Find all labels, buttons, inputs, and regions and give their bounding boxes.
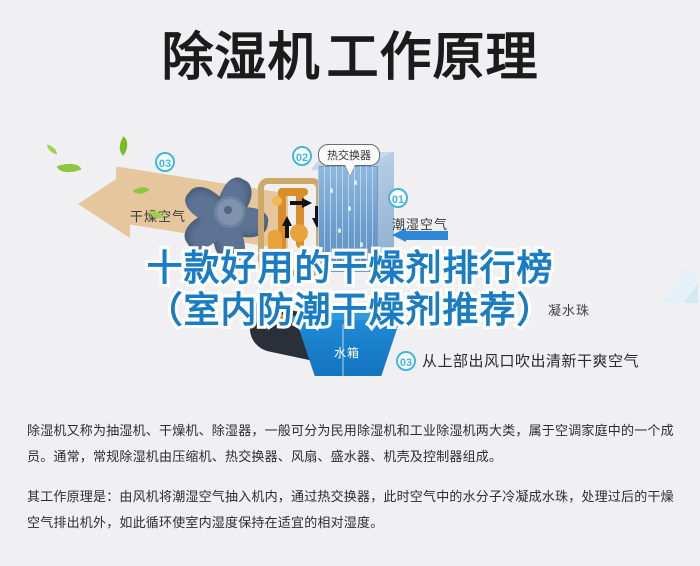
step-03-caption: 03 从上部出风口吹出清新干爽空气 xyxy=(396,350,639,371)
dehumidifier-diagram: 干燥空气 xyxy=(0,110,700,400)
step-03-caption-text: 从上部出风口吹出清新干爽空气 xyxy=(422,350,639,371)
heat-exchanger-callout: 热交换器 xyxy=(318,144,380,166)
step-badge-02: 02 xyxy=(292,146,312,166)
water-tank-icon: 水箱 xyxy=(290,310,406,382)
page-title: 除湿机工作原理 xyxy=(0,28,700,88)
body-paragraph-2: 其工作原理是：由风机将潮湿空气抽入机内，通过热交换器，此时空气中的水分子冷凝成水… xyxy=(27,484,675,536)
moist-air-label: 潮湿空气 xyxy=(392,214,448,233)
leaf-icon xyxy=(45,144,59,154)
flow-arrow-up-icon xyxy=(282,216,292,226)
article-body: 除湿机又称为抽湿机、干燥机、除湿器，一般可分为民用除湿机和工业除湿机两大类，属于… xyxy=(27,418,675,536)
step-badge-03b: 03 xyxy=(396,351,416,371)
fan-hub-icon xyxy=(214,196,246,228)
water-tank-label: 水箱 xyxy=(334,344,360,361)
step-badge-03: 03 xyxy=(155,152,175,172)
page-title-part1: 除湿机 xyxy=(161,29,320,87)
step-badge-01: 01 xyxy=(388,188,408,208)
page-title-part2: 工作原理 xyxy=(327,29,539,87)
body-paragraph-1: 除湿机又称为抽湿机、干燥机、除湿器，一般可分为民用除湿机和工业除湿机两大类，属于… xyxy=(27,418,675,470)
heat-exchanger-icon xyxy=(318,162,394,274)
infographic-page: 除湿机工作原理 干燥空气 xyxy=(0,0,700,566)
condensate-label: 凝水珠 xyxy=(548,300,590,319)
flow-arrow-right-icon xyxy=(302,198,312,208)
